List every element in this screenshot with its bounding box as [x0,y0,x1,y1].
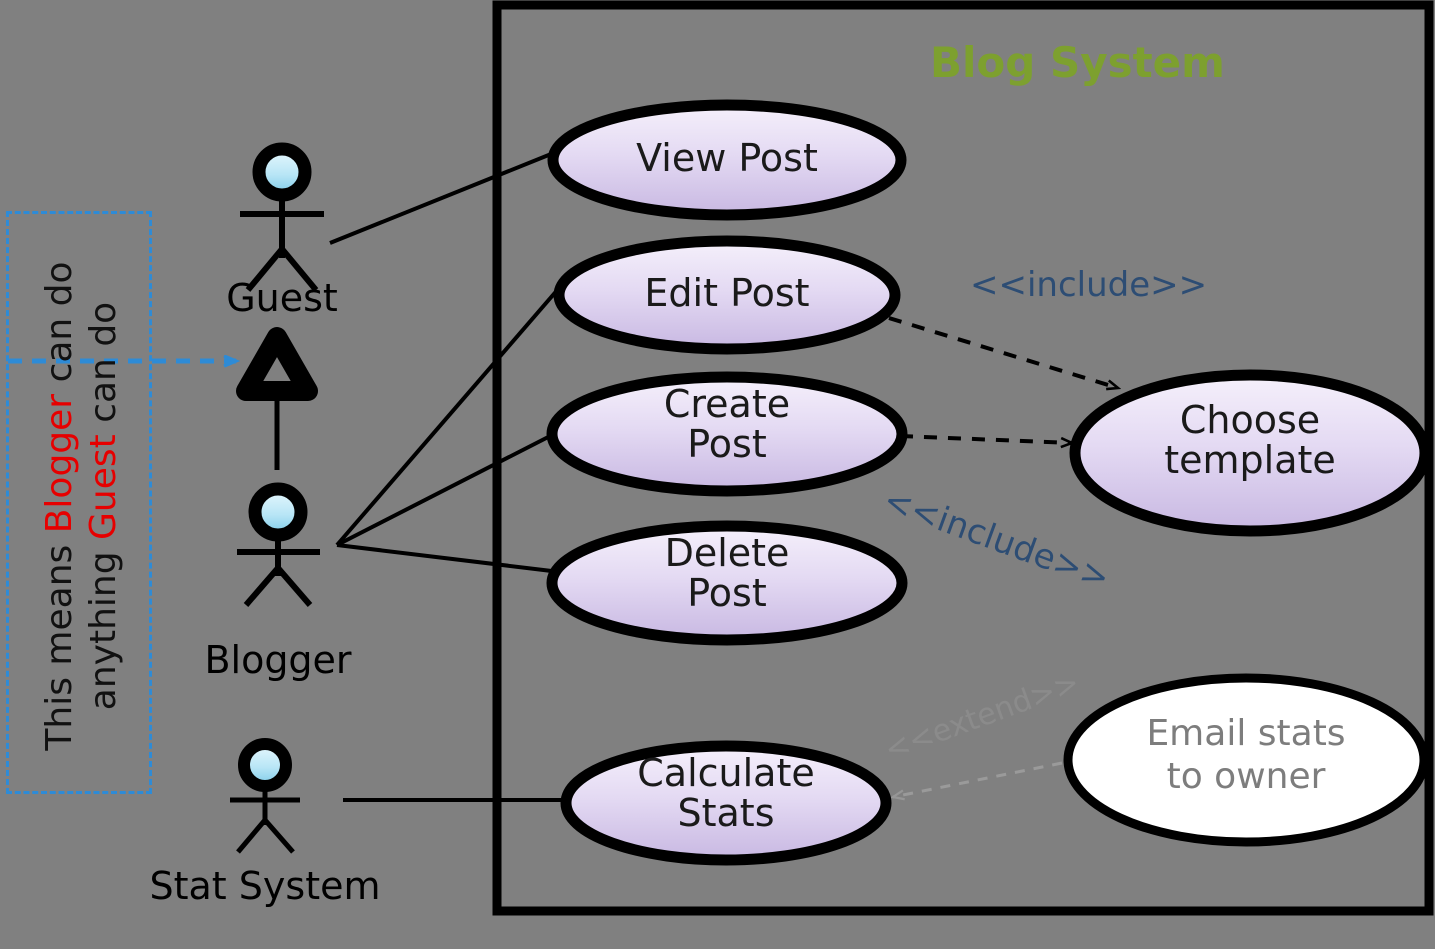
include-create-post-to-choose-template [900,436,1072,443]
include-edit-post-to-choose-template [889,318,1118,388]
actor-label-guest: Guest [182,276,382,320]
include-label-edit-post: <<include>> [970,265,1207,305]
use-case-label-calculate-stats: CalculateStats [556,753,896,834]
line-1: Choose [1180,398,1320,442]
note-line2-prefix: anything [83,539,124,709]
assoc-blogger-delete-post [337,545,560,572]
actor-guest[interactable] [240,149,324,290]
note-box: This means Blogger can doanything Guest … [6,211,152,794]
use-case-label-create-post: CreatePost [557,384,897,465]
generalization-blogger-to-guest [246,337,308,470]
line-1: Email stats [1146,713,1345,754]
line-1: Delete [665,531,790,575]
line-2: template [1164,438,1336,482]
note-text: This means Blogger can doanything Guest … [38,226,126,786]
actor-label-blogger: Blogger [178,638,378,682]
actor-blogger[interactable] [237,489,320,605]
note-text-wrapper: This means Blogger can doanything Guest … [9,214,155,797]
actor-head-icon [259,149,305,195]
actor-head-icon [244,744,286,786]
note-line1-prefix: This means [39,533,80,750]
extend-email-stats-to-calculate-stats [893,763,1062,797]
line-2: Post [687,422,767,466]
line-2: Stats [677,791,774,835]
actor-label-stat-system: Stat System [115,864,415,908]
note-line1-emph: Blogger [39,393,80,532]
line-1: Create [664,382,790,426]
generalization-triangle-icon [246,337,308,391]
assoc-blogger-create-post [337,432,558,545]
line-2: to owner [1167,756,1326,797]
line-2: Post [687,571,767,615]
use-case-label-delete-post: DeletePost [557,533,897,614]
use-case-label-email-stats-to-owner: Email statsto owner [1076,712,1416,798]
association-lines [330,148,575,800]
actor-head-icon [255,489,301,535]
note-line1-suffix: can do [39,261,80,393]
actor-stat-system[interactable] [230,744,300,852]
note-line2-suffix: can do [83,301,124,433]
line-1: Calculate [637,751,814,795]
use-case-label-view-post: View Post [557,138,897,178]
assoc-guest-view-post [330,148,566,243]
use-case-label-choose-template: Choosetemplate [1080,400,1420,481]
use-case-diagram: Blog System This means Blogger can doany… [0,0,1435,949]
use-case-label-edit-post: Edit Post [557,273,897,313]
system-title: Blog System [930,38,1210,87]
note-line2-emph: Guest [83,434,124,540]
